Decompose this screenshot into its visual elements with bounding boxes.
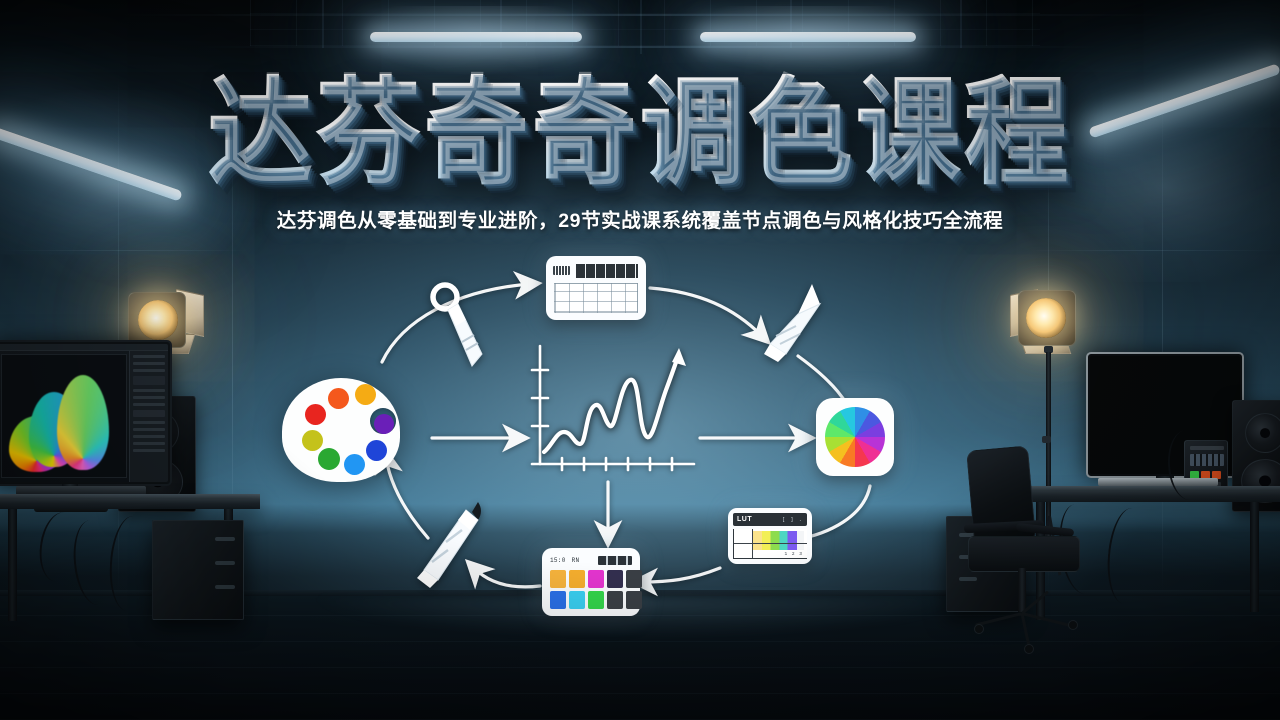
swatch[interactable] bbox=[607, 570, 623, 588]
cabinet-handle bbox=[215, 585, 235, 589]
color-scope-display bbox=[0, 344, 168, 482]
arrow-lut-to-swatches bbox=[642, 568, 720, 582]
swatch[interactable] bbox=[588, 591, 604, 609]
swatch-label-left: 15:0 bbox=[550, 557, 566, 564]
arrow-table-to-pencil bbox=[650, 288, 762, 336]
palette-dot bbox=[366, 440, 387, 461]
poster-title-wrap: 达芬奇奇调色课程 bbox=[0, 74, 1280, 180]
color-wheel bbox=[825, 407, 885, 467]
desk-leg bbox=[8, 509, 17, 621]
ceiling-rib bbox=[960, 0, 962, 48]
swatch[interactable] bbox=[607, 591, 623, 609]
pen-icon[interactable] bbox=[414, 498, 500, 592]
table-grid bbox=[554, 283, 638, 313]
curve-graph-svg bbox=[522, 340, 702, 485]
swatch-grid bbox=[550, 570, 642, 609]
node-table-card[interactable] bbox=[546, 256, 646, 320]
lut-axis-label: 1 2 3 bbox=[784, 552, 803, 557]
ceiling-grid bbox=[250, 0, 1040, 46]
ceiling-beam bbox=[200, 46, 1100, 48]
swatch-header-bar bbox=[598, 556, 632, 565]
file-cabinet-left[interactable] bbox=[152, 520, 244, 620]
cabinet-handle bbox=[215, 561, 235, 565]
swatch[interactable] bbox=[569, 591, 585, 609]
cabinet-handle bbox=[215, 537, 235, 541]
swatch[interactable] bbox=[588, 570, 604, 588]
scope-toolbar bbox=[0, 344, 168, 351]
palette-dot bbox=[318, 448, 340, 470]
palette-dot bbox=[374, 414, 394, 434]
palette-dot bbox=[302, 430, 323, 451]
pencil-icon[interactable] bbox=[756, 278, 832, 364]
swatch[interactable] bbox=[626, 591, 642, 609]
pencil-svg bbox=[756, 278, 832, 364]
color-grading-workflow-diagram: LUT [ ] . 1 2 3 15:0 RN bbox=[250, 250, 1030, 640]
stylus-icon[interactable] bbox=[426, 280, 506, 370]
palette-dot bbox=[328, 388, 349, 409]
fresnel-lens bbox=[138, 300, 178, 340]
table-tag-icon bbox=[553, 266, 570, 275]
lut-panel[interactable]: LUT [ ] . 1 2 3 bbox=[728, 508, 812, 564]
lut-ticks-label: [ ] . bbox=[782, 517, 803, 523]
swatch[interactable] bbox=[626, 570, 642, 588]
page-subtitle: 达芬调色从零基础到专业进阶，29节实战课系统覆盖节点调色与风格化技巧全流程 bbox=[0, 204, 1280, 233]
scope-side-panel bbox=[129, 351, 168, 482]
swatch[interactable] bbox=[550, 591, 566, 609]
page-title: 达芬奇奇调色课程 bbox=[208, 74, 1072, 193]
palette-dot bbox=[344, 454, 365, 475]
swatch-label-mid: RN bbox=[572, 557, 580, 564]
lut-graph: 1 2 3 bbox=[733, 529, 807, 559]
fresnel-knob bbox=[1042, 436, 1051, 443]
scope-blob bbox=[57, 375, 109, 470]
monitor-screen-left[interactable] bbox=[0, 344, 168, 482]
stylus-svg bbox=[426, 280, 506, 370]
ceiling-beam bbox=[120, 14, 1170, 16]
table-header-cells bbox=[576, 264, 638, 278]
lut-header: LUT [ ] . bbox=[733, 513, 807, 526]
swatch[interactable] bbox=[550, 570, 566, 588]
color-swatch-card[interactable]: 15:0 RN bbox=[542, 548, 640, 616]
ceiling-rib bbox=[640, 0, 642, 54]
speaker-cone bbox=[1245, 413, 1280, 453]
palette-dot bbox=[305, 404, 326, 425]
ceiling-rib bbox=[322, 0, 324, 48]
chair-caster bbox=[1068, 620, 1078, 630]
palette-icon bbox=[282, 378, 400, 482]
ceiling-tube-light-right bbox=[700, 32, 916, 42]
pen-svg bbox=[414, 498, 500, 592]
ceiling-tube-light-left bbox=[370, 32, 582, 42]
desk-leg bbox=[1250, 502, 1259, 612]
chair-caster bbox=[1024, 644, 1034, 654]
poster-stage: 达芬奇奇调色课程 达芬调色从零基础到专业进阶，29节实战课系统覆盖节点调色与风格… bbox=[0, 0, 1280, 720]
swatch-card-header: 15:0 RN bbox=[550, 555, 632, 566]
lut-axis-h bbox=[734, 543, 807, 544]
swatch[interactable] bbox=[569, 570, 585, 588]
fresnel-lens bbox=[1026, 298, 1066, 338]
wall-seam bbox=[1030, 250, 1280, 251]
scope-canvas bbox=[1, 354, 127, 478]
lut-title: LUT bbox=[737, 516, 752, 523]
palette-dot bbox=[355, 384, 376, 405]
curve-line bbox=[544, 354, 679, 452]
wall-seam bbox=[0, 250, 250, 251]
desk-left bbox=[0, 499, 260, 509]
color-wheel-icon[interactable] bbox=[816, 398, 894, 476]
ceiling bbox=[0, 0, 1280, 72]
curve-graph[interactable] bbox=[522, 340, 702, 485]
grading-monitor-left[interactable] bbox=[0, 340, 172, 486]
lut-color-bars bbox=[753, 531, 804, 551]
